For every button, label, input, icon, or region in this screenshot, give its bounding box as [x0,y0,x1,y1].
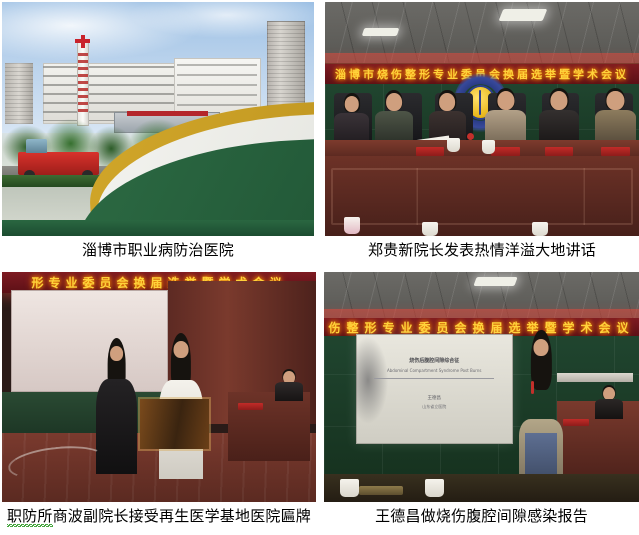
red-folder [238,403,263,410]
red-cross-icon [72,34,94,49]
panel-person-1 [334,96,369,140]
person-head [110,346,124,362]
photo-panel-speech: 淄博市烧伤整形专业委员会换届选举暨学术会议 [325,2,639,236]
person-body [539,110,580,140]
red-folder-2 [491,147,519,156]
caption-rest: 商波副院长接受再生医学基地医院匾牌 [53,507,311,525]
paper-cup-2 [482,140,495,154]
foreground-cup-1 [340,479,359,497]
photo-lecture-report: 伤整形专业委员会换届选举暨学术会议 烧伤后腹腔间隙综合征 Abdominal C… [324,272,639,502]
photo-hospital-exterior [2,2,314,236]
entrance-red-signage [127,111,208,117]
panel-person-2 [375,93,413,140]
projection-screen [11,290,168,391]
person-body [334,113,369,141]
person-body [375,111,413,140]
ceiling-light-1 [474,277,518,286]
projection-screen: 烧伤后腹腔间隙综合征 Abdominal Compartment Syndrom… [356,334,514,444]
person-body [275,382,303,401]
person-head [497,91,514,110]
panel-person-6 [595,91,636,140]
award-plaque [140,399,209,450]
person-head [607,91,624,110]
slide-title: 烧伤后腹腔间隙综合征 [368,358,500,365]
red-folder-4 [601,147,629,156]
slide-author: 王德昌 [368,395,500,402]
microphone-icon [531,381,535,394]
person-body [595,110,636,140]
photo-plaque-handover: 形专业委员会换届选举暨学术会议 [2,272,316,502]
panel-person-3 [429,93,467,140]
person-head [534,339,549,356]
hospital-sign-text [78,53,88,114]
caption-panel-speech: 郑贵新院长发表热情洋溢大地讲话 [325,241,639,259]
photo-cell-hospital-exterior [2,2,314,236]
slide-subtitle: Abdominal Compartment Syndrome Post Burn… [368,368,500,374]
slide-organization: 山东省立医院 [368,404,500,410]
fire-truck [18,152,99,175]
person-head [550,91,567,110]
person-head [386,93,402,111]
seated-person [595,387,623,419]
caption-lecture-report: 王德昌做烧伤腹腔间隙感染报告 [324,507,639,525]
seated-person [275,371,303,401]
wall-stripe [557,373,633,382]
caption-plaque-handover: 职防所商波副院长接受再生医学基地医院匾牌 [2,507,316,525]
ceiling-light-1 [498,9,547,21]
person-body [595,399,623,419]
foreground-cup-3 [532,222,548,236]
photo-gallery-page: 淄博市职业病防治医院 淄博市烧伤整形专业委员会换届选举暨学术会议 [0,0,639,535]
panel-person-4-speaker [485,91,526,140]
caption-hospital-exterior: 淄博市职业病防治医院 [2,241,314,259]
panel-person-5 [539,91,580,140]
foreground-object [359,486,403,495]
person-head [174,341,189,358]
red-folder-1 [416,147,444,156]
person-head [344,96,359,112]
foreground-cup-2 [422,222,438,236]
residential-tower-left [5,63,33,124]
side-podium [228,392,310,461]
photo-cell-lecture-report: 伤整形专业委员会换届选举暨学术会议 烧伤后腹腔间隙综合征 Abdominal C… [324,272,639,502]
panel-table-front [325,156,639,236]
paper-cup-1 [447,138,460,152]
slide-divider [374,378,494,379]
red-folder [563,419,588,426]
caption-misspelled-span: 职防所 [7,507,53,527]
banner-base-green [2,220,314,236]
photo-cell-panel-speech: 淄博市烧伤整形专业委员会换届选举暨学术会议 [325,2,639,236]
person-head [440,93,456,111]
screen-shadow [356,334,397,444]
foreground-cup-2 [425,479,444,497]
foreground-cup-1 [344,217,360,233]
red-folder-3 [545,147,573,156]
person-body [485,110,526,140]
photo-cell-plaque-handover: 形专业委员会换届选举暨学术会议 [2,272,316,502]
ceiling-light-2 [361,28,398,36]
speaker-person [519,339,563,482]
